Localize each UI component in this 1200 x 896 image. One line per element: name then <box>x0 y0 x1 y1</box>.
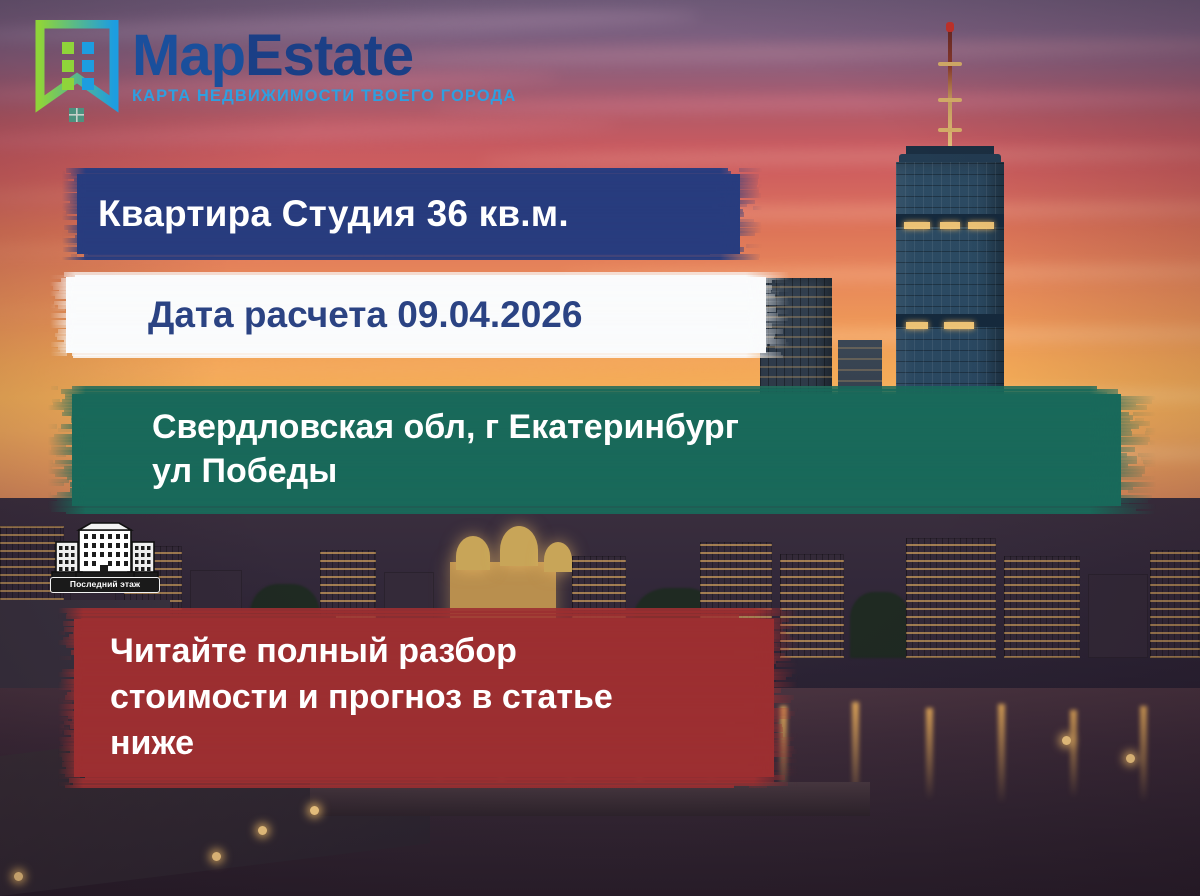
brand-wordmark: MapEstate <box>132 28 516 83</box>
poster-canvas: MapEstate КАРТА НЕДВИЖИМОСТИ ТВОЕГО ГОРО… <box>0 0 1200 896</box>
cta-line-1: Читайте полный разбор <box>110 629 613 675</box>
brand-name-part2: Estate <box>245 23 413 88</box>
top-floor-badge: Последний этаж <box>46 522 164 588</box>
cta-line-3: ниже <box>110 721 613 767</box>
cta-line-2: стоимости и прогноз в статье <box>110 675 613 721</box>
address-line-1: Свердловская обл, г Екатеринбург <box>152 406 739 450</box>
calculation-date-text: Дата расчета 09.04.2026 <box>50 294 582 336</box>
banner-address: Свердловская обл, г Екатеринбург ул Побе… <box>48 386 1156 514</box>
brand-name-part1: Map <box>132 23 245 88</box>
brand-logo[interactable]: MapEstate КАРТА НЕДВИЖИМОСТИ ТВОЕГО ГОРО… <box>34 20 516 124</box>
apartment-building-icon <box>46 522 164 582</box>
banner-property-type: Квартира Студия 36 кв.м. <box>62 168 762 260</box>
banner-calculation-date: Дата расчета 09.04.2026 <box>50 272 790 358</box>
brand-tagline: КАРТА НЕДВИЖИМОСТИ ТВОЕГО ГОРОДА <box>132 87 516 106</box>
call-to-action-text: Читайте полный разбор стоимости и прогно… <box>58 629 613 767</box>
top-floor-badge-label: Последний этаж <box>50 577 160 593</box>
property-type-text: Квартира Студия 36 кв.м. <box>62 193 569 235</box>
banner-call-to-action: Читайте полный разбор стоимости и прогно… <box>58 608 798 788</box>
tower-mast <box>948 30 952 150</box>
bookmark-building-icon <box>34 20 120 124</box>
brand-wordmark-group: MapEstate КАРТА НЕДВИЖИМОСТИ ТВОЕГО ГОРО… <box>132 20 516 106</box>
address-line-2: ул Победы <box>152 450 739 494</box>
address-text: Свердловская обл, г Екатеринбург ул Побе… <box>48 406 739 493</box>
